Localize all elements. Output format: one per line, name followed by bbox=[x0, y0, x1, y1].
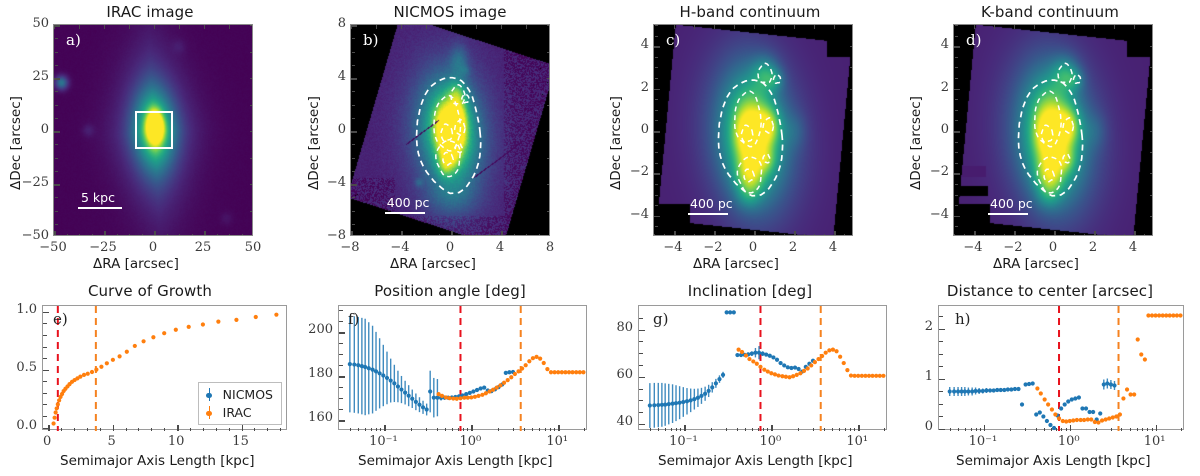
data-point bbox=[374, 369, 378, 373]
axis-tick bbox=[767, 428, 768, 432]
axis-tick bbox=[814, 25, 815, 29]
axis-tick bbox=[55, 197, 59, 198]
axis-tick bbox=[734, 25, 735, 29]
axis-tick bbox=[754, 231, 756, 236]
axis-tick bbox=[352, 65, 356, 66]
axis-tick bbox=[971, 428, 972, 432]
data-point bbox=[1111, 415, 1115, 419]
axis-tick bbox=[250, 184, 253, 185]
axis-tick bbox=[655, 163, 659, 164]
axis-tick bbox=[167, 234, 168, 237]
axis-tick bbox=[850, 67, 853, 68]
axis-tick bbox=[351, 236, 357, 237]
data-point bbox=[1038, 410, 1042, 414]
data-point bbox=[478, 386, 482, 390]
axis-tick bbox=[458, 428, 459, 432]
data-point bbox=[769, 371, 773, 375]
axis-tick bbox=[939, 391, 943, 392]
axis-tick bbox=[203, 428, 204, 431]
scalebar-label-a: 5 kpc bbox=[81, 190, 115, 205]
series-irac bbox=[437, 355, 586, 401]
axis-tick bbox=[43, 416, 47, 417]
axis-tick bbox=[539, 234, 540, 237]
data-point bbox=[53, 416, 57, 420]
axis-tick bbox=[339, 310, 343, 311]
scalebar-line-d bbox=[988, 213, 1028, 215]
data-point bbox=[403, 391, 407, 395]
axis-tick bbox=[980, 428, 981, 432]
data-point bbox=[502, 381, 506, 385]
data-point bbox=[1112, 383, 1116, 387]
data-point bbox=[988, 388, 992, 392]
panel-b-xlabel: ΔRA [arcsec] bbox=[390, 256, 476, 272]
axis-tick bbox=[371, 428, 372, 432]
data-point bbox=[482, 385, 486, 389]
data-point bbox=[992, 388, 996, 392]
axis-tick bbox=[737, 428, 738, 432]
contour-level-inner bbox=[451, 85, 465, 104]
data-point bbox=[1020, 402, 1024, 406]
panel-f-axes[interactable]: f) bbox=[338, 305, 587, 430]
panel-f-title: Position angle [deg] bbox=[300, 282, 600, 300]
axis-tick bbox=[154, 25, 155, 29]
axis-tick bbox=[1114, 25, 1115, 29]
panel-c-axes[interactable]: 400 pc c) bbox=[653, 24, 853, 236]
axis-tick bbox=[774, 234, 775, 237]
axis-tick-label: −4 bbox=[663, 240, 682, 255]
data-point bbox=[735, 353, 739, 357]
data-point bbox=[1136, 337, 1140, 341]
axis-tick bbox=[752, 428, 753, 432]
axis-tick bbox=[55, 52, 59, 53]
axis-tick-label: −50 bbox=[22, 228, 49, 243]
data-point bbox=[870, 374, 874, 378]
panel-h-xlabel: Semimajor Axis Length [kpc] bbox=[956, 453, 1151, 469]
axis-tick bbox=[850, 216, 853, 217]
data-point bbox=[520, 366, 524, 370]
axis-tick bbox=[43, 393, 47, 394]
data-point bbox=[747, 357, 751, 361]
position-angle-plot bbox=[339, 306, 588, 431]
data-point bbox=[1091, 410, 1095, 414]
axis-tick bbox=[376, 234, 377, 237]
data-point bbox=[111, 358, 115, 362]
axis-tick bbox=[547, 52, 550, 53]
data-point bbox=[786, 365, 790, 369]
data-point bbox=[853, 374, 857, 378]
contour-level-inner bbox=[1063, 118, 1073, 134]
axis-tick bbox=[655, 184, 659, 185]
data-point bbox=[396, 384, 400, 388]
data-point bbox=[421, 405, 425, 409]
axis-tick bbox=[61, 428, 62, 431]
data-point bbox=[1064, 419, 1068, 423]
axis-tick bbox=[764, 234, 765, 237]
axis-tick bbox=[976, 428, 977, 432]
data-point bbox=[1016, 387, 1020, 391]
axis-tick bbox=[1061, 428, 1062, 432]
axis-tick-label: −4 bbox=[963, 240, 982, 255]
data-point bbox=[782, 363, 786, 367]
axis-tick bbox=[54, 231, 56, 236]
axis-tick bbox=[524, 428, 525, 432]
axis-tick-label: 180 bbox=[308, 366, 333, 381]
axis-tick bbox=[639, 330, 645, 332]
axis-tick bbox=[339, 387, 343, 388]
axis-tick bbox=[351, 25, 352, 29]
series-irac bbox=[1035, 313, 1182, 424]
data-point bbox=[54, 410, 58, 414]
contour-level-inner bbox=[744, 169, 754, 182]
axis-tick bbox=[204, 25, 205, 29]
axis-tick bbox=[463, 428, 464, 432]
axis-tick bbox=[954, 89, 960, 91]
axis-tick bbox=[965, 428, 966, 432]
axis-tick bbox=[54, 25, 55, 29]
axis-tick-label: 10⁻¹ bbox=[969, 434, 998, 449]
data-point bbox=[216, 320, 220, 324]
axis-tick bbox=[439, 234, 440, 237]
panel-g-axes[interactable]: g) bbox=[638, 305, 887, 430]
axis-tick-label: 10⁻¹ bbox=[669, 434, 698, 449]
axis-tick bbox=[850, 428, 851, 432]
data-point bbox=[1146, 313, 1150, 317]
scalebar-line-a bbox=[78, 207, 122, 209]
axis-tick bbox=[55, 211, 59, 212]
data-point bbox=[414, 400, 418, 404]
axis-tick bbox=[955, 163, 959, 164]
axis-tick bbox=[1134, 25, 1135, 29]
data-point bbox=[356, 363, 360, 367]
axis-tick bbox=[671, 428, 672, 432]
data-point bbox=[1128, 392, 1132, 396]
axis-tick bbox=[339, 321, 343, 322]
axis-tick bbox=[1036, 428, 1037, 432]
axis-tick-label: −2 bbox=[630, 164, 649, 179]
axis-tick bbox=[655, 110, 659, 111]
data-point bbox=[999, 388, 1003, 392]
axis-tick bbox=[43, 381, 47, 382]
axis-tick bbox=[1034, 234, 1035, 237]
data-point bbox=[399, 387, 403, 391]
contour-level-inner bbox=[763, 154, 770, 163]
data-point bbox=[750, 352, 754, 356]
data-point bbox=[1048, 423, 1052, 427]
axis-tick bbox=[54, 236, 60, 237]
contour-level-outer bbox=[1018, 80, 1082, 196]
data-point bbox=[560, 370, 564, 374]
axis-tick bbox=[267, 428, 268, 431]
axis-tick bbox=[939, 354, 943, 355]
axis-tick bbox=[54, 184, 60, 186]
panel-g-title: Inclination [deg] bbox=[600, 282, 900, 300]
axis-tick bbox=[1066, 428, 1067, 432]
axis-tick-label: 10¹ bbox=[846, 434, 868, 449]
axis-tick bbox=[954, 216, 960, 218]
axis-tick bbox=[1034, 25, 1035, 29]
axis-tick bbox=[850, 195, 853, 196]
axis-tick bbox=[55, 144, 59, 145]
data-point bbox=[787, 375, 791, 379]
axis-tick bbox=[43, 404, 47, 405]
axis-tick bbox=[476, 25, 477, 29]
axis-tick bbox=[655, 226, 659, 227]
data-point bbox=[455, 397, 459, 401]
axis-tick-label: 80 bbox=[616, 320, 633, 335]
axis-tick bbox=[54, 131, 60, 133]
axis-tick bbox=[526, 25, 527, 29]
axis-tick-label: 0 bbox=[43, 434, 51, 449]
axis-tick-label: 4 bbox=[641, 37, 649, 52]
data-point bbox=[428, 389, 432, 393]
contours-c bbox=[654, 25, 853, 236]
data-point bbox=[1084, 406, 1088, 410]
data-point bbox=[1073, 396, 1077, 400]
series-nicmos bbox=[948, 379, 1117, 431]
axis-tick bbox=[1150, 131, 1153, 132]
axis-tick-label: 50 bbox=[245, 240, 262, 255]
contour-level-inner bbox=[1035, 91, 1062, 146]
axis-tick bbox=[1150, 216, 1153, 217]
axis-tick bbox=[351, 131, 357, 133]
errorbar-marker-icon bbox=[205, 388, 214, 401]
axis-tick bbox=[1150, 67, 1153, 68]
axis-tick bbox=[958, 428, 959, 432]
axis-tick bbox=[650, 428, 651, 432]
data-point bbox=[721, 373, 725, 377]
axis-tick bbox=[250, 211, 253, 212]
axis-tick bbox=[639, 389, 643, 390]
axis-tick bbox=[639, 318, 643, 319]
axis-tick bbox=[558, 425, 560, 431]
axis-tick bbox=[547, 25, 550, 26]
axis-tick bbox=[939, 379, 945, 381]
data-point bbox=[775, 358, 779, 362]
axis-tick bbox=[532, 428, 533, 432]
data-point bbox=[1039, 391, 1043, 395]
panel-e: Curve of Growth e) NICMOS IRAC Semimajor… bbox=[0, 280, 300, 476]
axis-tick-label: 2 bbox=[1089, 240, 1097, 255]
data-point bbox=[981, 389, 985, 393]
axis-tick-label: 40 bbox=[616, 414, 633, 429]
axis-tick bbox=[179, 234, 180, 237]
axis-tick bbox=[79, 25, 80, 29]
axis-tick bbox=[501, 25, 502, 29]
data-point bbox=[466, 396, 470, 400]
axis-tick bbox=[664, 234, 665, 237]
axis-tick bbox=[55, 171, 59, 172]
axis-tick bbox=[763, 428, 764, 432]
axis-tick bbox=[954, 173, 960, 175]
axis-tick bbox=[984, 425, 986, 431]
axis-tick bbox=[1044, 428, 1045, 432]
axis-tick-label: 0 bbox=[446, 240, 454, 255]
panel-b-axes[interactable]: 400 pc b) bbox=[350, 24, 550, 236]
legend-row-irac[interactable]: IRAC bbox=[205, 405, 273, 420]
axis-tick bbox=[1142, 428, 1143, 432]
axis-tick bbox=[1064, 234, 1065, 237]
data-point bbox=[1107, 416, 1111, 420]
data-point bbox=[1168, 313, 1172, 317]
data-point bbox=[874, 374, 878, 378]
axis-tick bbox=[1152, 428, 1153, 432]
axis-tick bbox=[1144, 234, 1145, 237]
data-point bbox=[791, 374, 795, 378]
axis-tick bbox=[684, 425, 686, 431]
data-point bbox=[732, 310, 736, 314]
data-point bbox=[447, 396, 451, 400]
axis-tick-label: 1.0 bbox=[16, 302, 37, 317]
contour-level-inner bbox=[1058, 63, 1072, 82]
data-point bbox=[1139, 352, 1143, 356]
axis-tick bbox=[138, 428, 139, 431]
axis-tick bbox=[1147, 428, 1148, 432]
data-point bbox=[751, 359, 755, 363]
axis-tick bbox=[1150, 195, 1153, 196]
panel-b-letter: b) bbox=[363, 31, 378, 49]
axis-tick bbox=[1181, 428, 1182, 432]
contour-level-inner bbox=[1037, 157, 1061, 193]
axis-tick bbox=[654, 46, 660, 48]
panel-h-axes[interactable]: h) bbox=[938, 305, 1184, 430]
axis-tick bbox=[804, 234, 805, 237]
axis-tick-label: 8 bbox=[338, 16, 346, 31]
axis-tick-label: 60 bbox=[616, 367, 633, 382]
axis-tick-label: 2 bbox=[941, 80, 949, 95]
data-point bbox=[681, 400, 685, 404]
axis-tick bbox=[939, 429, 945, 431]
panel-d: K-band continuum 400 pc d) ΔDec [arcsec]… bbox=[900, 0, 1200, 280]
axis-tick bbox=[834, 25, 835, 29]
data-point bbox=[1082, 418, 1086, 422]
axis-tick bbox=[217, 234, 218, 237]
axis-tick-label: 0 bbox=[749, 240, 757, 255]
data-point bbox=[838, 355, 842, 359]
axis-tick bbox=[55, 91, 59, 92]
axis-tick bbox=[655, 36, 659, 37]
series-legend[interactable]: NICMOS IRAC bbox=[198, 382, 282, 425]
axis-tick bbox=[794, 231, 796, 236]
data-point bbox=[534, 355, 538, 359]
axis-tick bbox=[955, 57, 959, 58]
axis-tick bbox=[151, 428, 152, 431]
axis-tick bbox=[1094, 25, 1095, 29]
axis-tick bbox=[154, 231, 156, 236]
axis-tick bbox=[464, 234, 465, 237]
axis-tick-label: 160 bbox=[308, 410, 333, 425]
axis-tick bbox=[955, 110, 959, 111]
data-point bbox=[506, 378, 510, 382]
axis-tick bbox=[55, 158, 59, 159]
scalebar-label-b: 400 pc bbox=[387, 195, 430, 210]
data-point bbox=[527, 359, 531, 363]
axis-tick bbox=[1024, 234, 1025, 237]
axis-tick bbox=[724, 234, 725, 237]
data-point bbox=[795, 373, 799, 377]
axis-tick bbox=[339, 365, 343, 366]
contour-level-inner bbox=[441, 124, 452, 141]
axis-tick-label: 10⁰ bbox=[1058, 434, 1080, 449]
panel-d-axes[interactable]: 400 pc d) bbox=[953, 24, 1153, 236]
data-point bbox=[487, 389, 491, 393]
axis-tick bbox=[1130, 428, 1131, 432]
data-point bbox=[856, 374, 860, 378]
axis-tick bbox=[844, 234, 845, 237]
axis-tick bbox=[339, 332, 345, 334]
data-point bbox=[201, 322, 205, 326]
axis-tick bbox=[665, 428, 666, 432]
axis-tick bbox=[1156, 425, 1158, 431]
axis-tick bbox=[974, 231, 976, 236]
axis-tick bbox=[526, 234, 527, 237]
axis-tick bbox=[117, 234, 118, 237]
data-point bbox=[737, 348, 741, 352]
data-point bbox=[495, 385, 499, 389]
data-point bbox=[813, 360, 817, 364]
axis-tick bbox=[389, 234, 390, 237]
axis-tick bbox=[850, 131, 853, 132]
data-point bbox=[652, 403, 656, 407]
data-point bbox=[667, 402, 671, 406]
legend-row-nicmos[interactable]: NICMOS bbox=[205, 387, 273, 402]
axis-tick bbox=[639, 341, 643, 342]
axis-tick bbox=[547, 184, 550, 185]
panel-a-axes[interactable]: 5 kpc a) bbox=[53, 24, 253, 236]
axis-tick bbox=[250, 105, 253, 106]
axis-tick bbox=[955, 78, 959, 79]
axis-tick bbox=[376, 428, 377, 432]
data-point bbox=[392, 381, 396, 385]
axis-tick bbox=[994, 25, 995, 29]
panel-d-ylabel: ΔDec [arcsec] bbox=[908, 96, 924, 190]
axis-tick-label: 4 bbox=[941, 37, 949, 52]
axis-tick bbox=[352, 118, 356, 119]
data-point bbox=[806, 366, 810, 370]
panel-e-title: Curve of Growth bbox=[0, 282, 300, 300]
data-point bbox=[56, 402, 60, 406]
data-point bbox=[1057, 416, 1061, 420]
data-point bbox=[556, 370, 560, 374]
axis-tick bbox=[498, 428, 499, 432]
data-point bbox=[475, 388, 479, 392]
series-nicmos bbox=[348, 316, 515, 418]
axis-tick bbox=[950, 428, 951, 432]
data-point bbox=[55, 406, 59, 410]
data-point bbox=[1068, 419, 1072, 423]
panel-e-axes[interactable]: e) NICMOS IRAC bbox=[42, 305, 287, 430]
data-point bbox=[1125, 387, 1129, 391]
panel-h-title: Distance to center [arcsec] bbox=[900, 282, 1200, 300]
contour-level-inner bbox=[1063, 154, 1070, 163]
data-point bbox=[141, 339, 145, 343]
axis-tick bbox=[476, 234, 477, 237]
data-point bbox=[1109, 382, 1113, 386]
axis-tick bbox=[964, 234, 965, 237]
data-point bbox=[516, 369, 520, 373]
axis-tick-label: −4 bbox=[930, 207, 949, 222]
data-point bbox=[707, 389, 711, 393]
axis-tick-label: −2 bbox=[1003, 240, 1022, 255]
data-point bbox=[831, 348, 835, 352]
axis-tick bbox=[939, 416, 943, 417]
data-point bbox=[845, 368, 849, 372]
axis-tick bbox=[339, 398, 343, 399]
data-point bbox=[491, 388, 495, 392]
data-point bbox=[553, 370, 557, 374]
axis-tick bbox=[113, 425, 115, 431]
axis-tick-label: 4 bbox=[1129, 240, 1137, 255]
panel-d-xlabel: ΔRA [arcsec] bbox=[993, 256, 1079, 272]
